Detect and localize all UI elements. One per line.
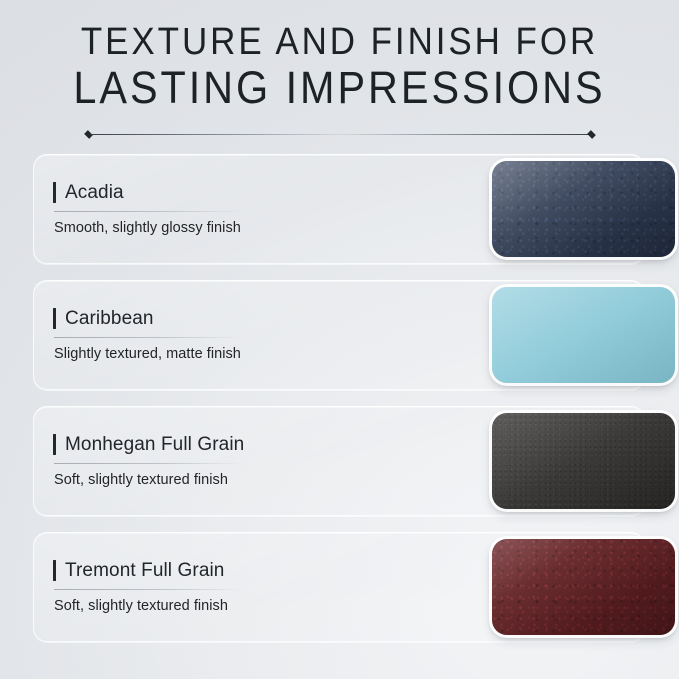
- swatch-name-row: Tremont Full Grain: [53, 560, 406, 582]
- swatch-tile[interactable]: [492, 287, 675, 383]
- accent-bar-icon: [53, 308, 56, 329]
- divider-line: [90, 134, 590, 135]
- accent-bar-icon: [53, 434, 56, 455]
- swatch-card[interactable]: CaribbeanSlightly textured, matte finish: [33, 280, 645, 390]
- swatch-info: AcadiaSmooth, slightly glossy finish: [34, 182, 406, 236]
- swatch-list: AcadiaSmooth, slightly glossy finishCari…: [0, 154, 679, 642]
- page-title-line-1: Texture and Finish for: [27, 22, 652, 62]
- title-divider: [84, 128, 596, 142]
- swatch-sheen-overlay: [492, 161, 675, 257]
- swatch-description: Soft, slightly textured finish: [54, 472, 406, 488]
- swatch-name-underline: [54, 337, 242, 338]
- swatch-tile[interactable]: [492, 161, 675, 257]
- swatch-name-underline: [54, 463, 242, 464]
- swatch-card[interactable]: Tremont Full GrainSoft, slightly texture…: [33, 532, 645, 642]
- swatch-sheen-overlay: [492, 539, 675, 635]
- diamond-ornament-right-icon: [587, 130, 596, 139]
- swatch-description: Smooth, slightly glossy finish: [54, 220, 406, 236]
- swatch-info: Monhegan Full GrainSoft, slightly textur…: [34, 434, 406, 488]
- swatch-color-sample: [492, 161, 675, 257]
- swatch-name: Acadia: [65, 182, 124, 204]
- swatch-color-sample: [492, 413, 675, 509]
- page-title-line-2: Lasting Impressions: [27, 64, 652, 112]
- accent-bar-icon: [53, 560, 56, 581]
- swatch-tile[interactable]: [492, 413, 675, 509]
- swatch-sheen-overlay: [492, 287, 675, 383]
- swatch-color-sample: [492, 539, 675, 635]
- accent-bar-icon: [53, 182, 56, 203]
- page-header: Texture and Finish for Lasting Impressio…: [0, 0, 679, 142]
- swatch-tile[interactable]: [492, 539, 675, 635]
- swatch-info: Tremont Full GrainSoft, slightly texture…: [34, 560, 406, 614]
- swatch-name: Monhegan Full Grain: [65, 434, 244, 456]
- swatch-info: CaribbeanSlightly textured, matte finish: [34, 308, 406, 362]
- swatch-color-sample: [492, 287, 675, 383]
- swatch-name-underline: [54, 211, 242, 212]
- swatch-name: Tremont Full Grain: [65, 560, 224, 582]
- swatch-card[interactable]: AcadiaSmooth, slightly glossy finish: [33, 154, 645, 264]
- swatch-sheen-overlay: [492, 413, 675, 509]
- swatch-name-underline: [54, 589, 242, 590]
- swatch-description: Soft, slightly textured finish: [54, 598, 406, 614]
- swatch-name-row: Monhegan Full Grain: [53, 434, 406, 456]
- swatch-description: Slightly textured, matte finish: [54, 346, 406, 362]
- swatch-card[interactable]: Monhegan Full GrainSoft, slightly textur…: [33, 406, 645, 516]
- swatch-name-row: Acadia: [53, 182, 406, 204]
- swatch-name-row: Caribbean: [53, 308, 406, 330]
- swatch-name: Caribbean: [65, 308, 154, 330]
